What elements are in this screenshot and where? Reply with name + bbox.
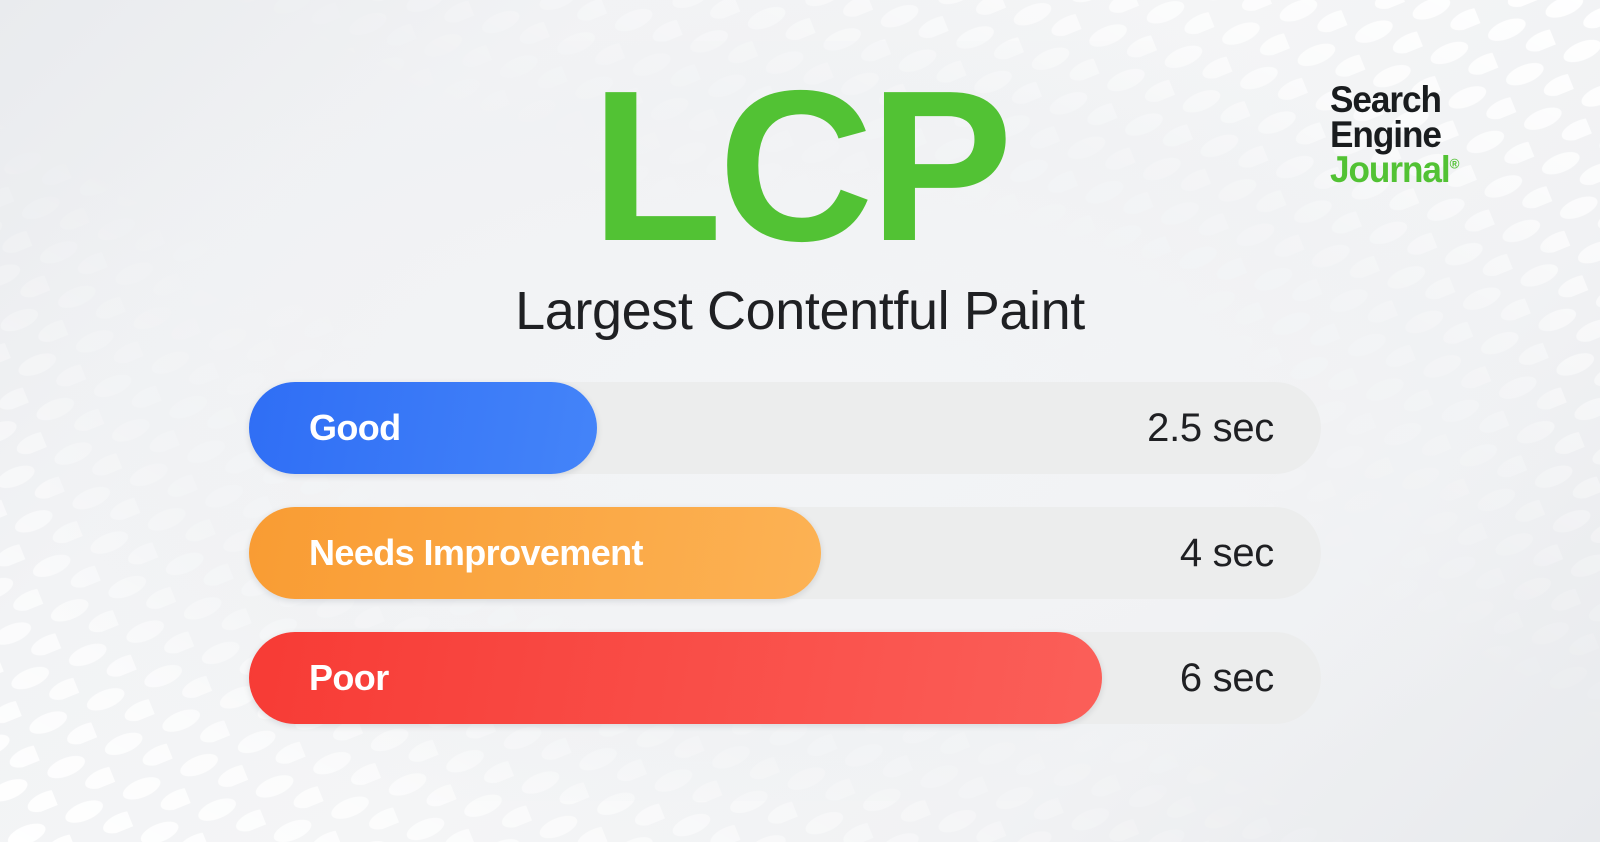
bar-value-good: 2.5 sec <box>1147 382 1274 474</box>
page-subtitle: Largest Contentful Paint <box>0 280 1600 342</box>
bar-row-good: Good 2.5 sec <box>249 382 1321 474</box>
bar-row-needs-improvement: Needs Improvement 4 sec <box>249 507 1321 599</box>
bar-value-poor: 6 sec <box>1180 632 1274 724</box>
bar-row-poor: Poor 6 sec <box>249 632 1321 724</box>
bar-label-poor: Poor <box>309 657 389 699</box>
lcp-threshold-bars: Good 2.5 sec Needs Improvement 4 sec Poo… <box>249 382 1321 724</box>
bar-label-needs-improvement: Needs Improvement <box>309 532 643 574</box>
bar-fill-needs-improvement: Needs Improvement <box>249 507 821 599</box>
bar-label-good: Good <box>309 407 401 449</box>
search-engine-journal-logo: Search Engine Journal® <box>1330 82 1459 187</box>
logo-line-search: Search <box>1330 82 1459 117</box>
logo-line-engine: Engine <box>1330 117 1459 152</box>
registered-trademark-icon: ® <box>1449 156 1459 172</box>
logo-line-journal: Journal® <box>1330 152 1459 187</box>
bar-value-needs-improvement: 4 sec <box>1180 507 1274 599</box>
logo-journal-text: Journal <box>1330 149 1450 190</box>
bar-fill-poor: Poor <box>249 632 1102 724</box>
infographic-canvas: LCP Largest Contentful Paint Search Engi… <box>0 0 1600 842</box>
bar-fill-good: Good <box>249 382 597 474</box>
